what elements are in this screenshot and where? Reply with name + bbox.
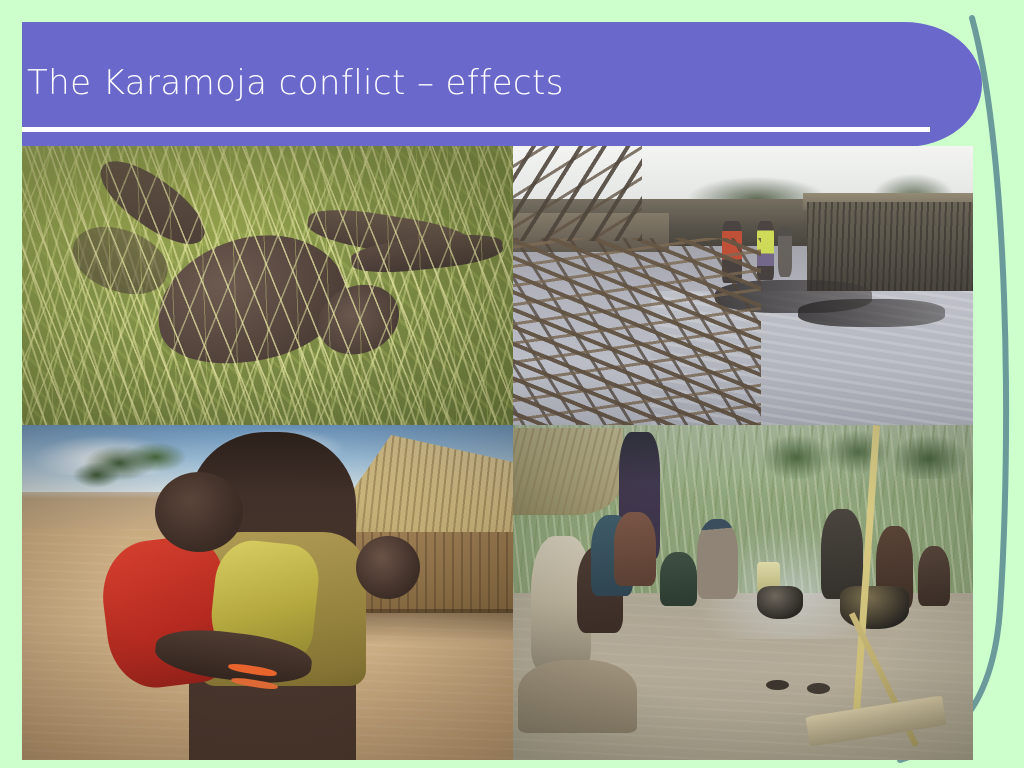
photo-burned-village: [513, 146, 973, 425]
page-title: The Karamoja conflict – effects: [27, 66, 564, 100]
photo2-haze: [513, 146, 973, 425]
photo-children-and-hut: [22, 425, 513, 760]
photo1-vignette: [22, 146, 513, 425]
photo-group-around-fire: [513, 425, 973, 760]
slide-canvas: The Karamoja conflict – effects: [0, 0, 1024, 768]
photo3-vignette: [22, 425, 513, 760]
photo-grid: [22, 146, 973, 760]
photo4-vignette: [513, 425, 973, 760]
photo-body-in-grass: [22, 146, 513, 425]
title-underline-rule: [22, 127, 930, 132]
